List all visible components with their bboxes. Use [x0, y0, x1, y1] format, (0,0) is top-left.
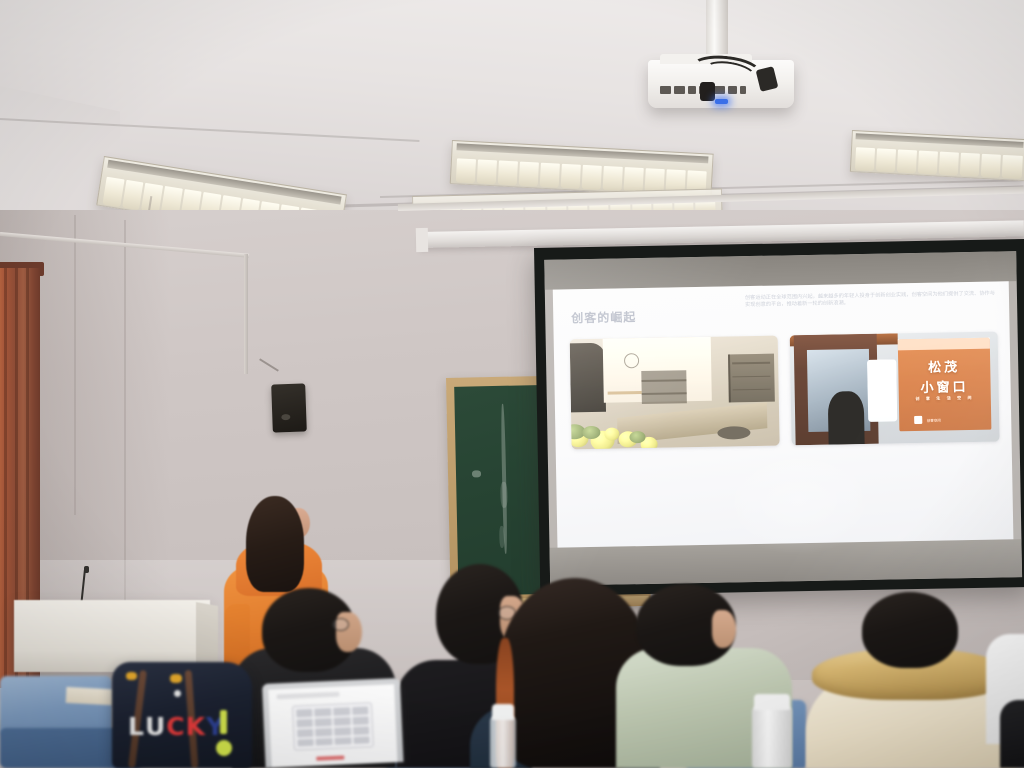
presenter-hair [246, 496, 304, 592]
laptop-app-grid [292, 702, 375, 751]
slide-photo-flowers [570, 399, 701, 450]
laptop-status-bar [317, 755, 345, 761]
open-laptop[interactable] [262, 678, 404, 768]
wall-conduit [244, 254, 248, 374]
student-head [862, 592, 958, 668]
slide-photo-shopfront: 松茂 小窗口 创 意 生 活 空 间 创客空间 [790, 332, 1000, 446]
microphone-head [84, 566, 89, 573]
banner-line-1: 松茂 [898, 356, 990, 377]
wall-speaker [271, 383, 307, 432]
banner-logo-mark [914, 415, 922, 423]
classroom-scene: 创客的崛起 创客运动正在全球范围内兴起，越来越多的年轻人投身于创新创业实践，创客… [0, 0, 1024, 768]
slide-body-text: 创客运动正在全球范围内兴起，越来越多的年轻人投身于创新创业实践，创客空间为他们提… [745, 291, 995, 309]
student-face [712, 610, 736, 648]
backpack-exclaim-bar [220, 710, 227, 734]
water-bottle-clear [490, 716, 516, 768]
slide-photo-makerspace-cafe [570, 336, 780, 450]
slide-title: 创客的崛起 [571, 308, 636, 326]
slide-photo-orange-banner: 松茂 小窗口 创 意 生 活 空 间 创客空间 [898, 337, 991, 431]
presentation-slide: 创客的崛起 创客运动正在全球范围内兴起，越来越多的年轻人投身于创新创业实践，创客… [553, 281, 1014, 547]
backpack-exclaim-dot [216, 740, 232, 756]
screen-surface: 创客的崛起 创客运动正在全球范围内兴起，越来越多的年轻人投身于创新创业实践，创客… [544, 251, 1022, 586]
wall-seam [124, 220, 126, 610]
student-jacket [1000, 700, 1024, 768]
screen-housing-end-cap [416, 228, 428, 252]
slide-photo-row: 松茂 小窗口 创 意 生 活 空 间 创客空间 [570, 332, 1000, 450]
thermos-cap [754, 694, 790, 710]
banner-logo-caption: 创客空间 [927, 419, 941, 424]
navy-backpack: LUCKY [112, 662, 252, 768]
wall-seam [74, 215, 76, 515]
laptop-toolbar [276, 691, 339, 699]
laptop-screen [268, 684, 397, 767]
projector-mount-pole [706, 0, 728, 62]
projector-cable-plug [700, 82, 715, 101]
bottle-cap [492, 704, 514, 720]
thermos-white [752, 706, 792, 768]
banner-line-3: 创 意 生 活 空 间 [899, 394, 991, 402]
projection-screen[interactable]: 创客的崛起 创客运动正在全球范围内兴起，越来越多的年轻人投身于创新创业实践，创客… [534, 239, 1024, 596]
glasses-icon [332, 618, 349, 631]
chair [0, 676, 112, 734]
banner-line-2: 小窗口 [899, 376, 991, 397]
backpack-text: LUCKY [128, 714, 225, 739]
projector-power-led [715, 99, 728, 104]
